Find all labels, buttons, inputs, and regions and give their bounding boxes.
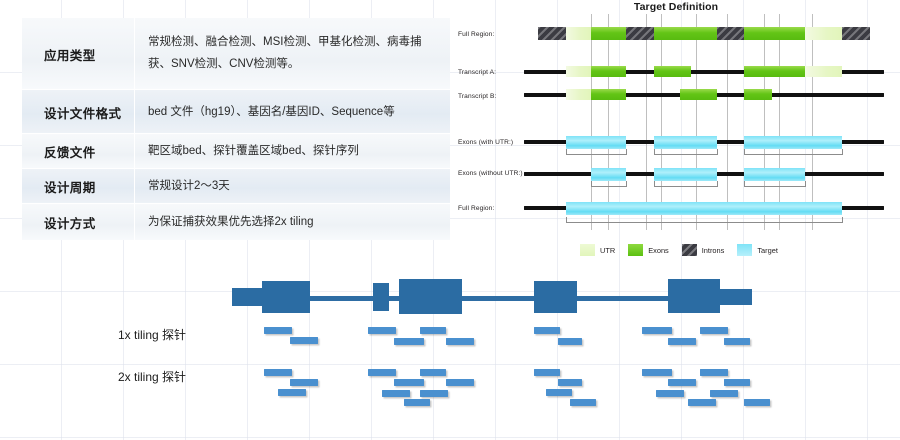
probe-1x [420,327,446,334]
gridline [646,14,647,230]
probe-2x [642,369,672,376]
probe-2x [264,369,292,376]
tiling-label: 1x tiling 探针 [118,326,186,343]
gridline [727,14,728,230]
segment-utr [805,66,843,77]
spec-row-value: 常规设计2～3天 [134,169,450,204]
spec-row-value: 为保证捕获效果优先选择2x tiling [134,204,450,240]
tiling-label: 2x tiling 探针 [118,368,186,385]
segment-target [654,136,717,149]
dimension-tick [566,149,567,155]
dimension-tick [717,149,718,155]
target-definition-panel: Target Definition Full Region:Transcript… [452,0,900,266]
dimension-line [744,154,842,155]
probe-1x [668,338,696,345]
segment-utr [566,27,591,40]
gene-exon-box [712,289,752,305]
gridline [779,14,780,230]
legend-item: Target [737,244,778,256]
spec-row: 设计文件格式bed 文件（hg19）、基因名/基因ID、Sequence等 [22,90,450,134]
track-label: Full Region: [458,205,494,212]
spec-row: 应用类型常规检测、融合检测、MSI检测、甲基化检测、病毒捕获、SNV检测、CNV… [22,18,450,90]
legend-swatch-target-icon [737,244,752,256]
probe-1x [264,327,292,334]
segment-exon [744,89,772,100]
dimension-tick [805,181,806,187]
probe-2x [420,390,448,397]
segment-exon [591,66,626,77]
probe-2x [546,389,572,396]
dimension-tick [591,181,592,187]
legend-item: UTR [580,244,615,256]
probe-2x [382,390,410,397]
dimension-tick [744,149,745,155]
tiling-panel: 1x tiling 探针2x tiling 探针 [0,262,900,440]
probe-1x [642,327,672,334]
gene-exon-box [262,281,310,313]
dimension-line [654,154,717,155]
dimension-tick [626,149,627,155]
probe-2x [404,399,430,406]
probe-2x [290,379,318,386]
segment-target [744,136,842,149]
probe-2x [668,379,696,386]
target-definition-plot: Full Region:Transcript A:Transcript B:Ex… [452,0,900,266]
spec-row-value: bed 文件（hg19）、基因名/基因ID、Sequence等 [134,90,450,134]
dimension-tick [566,217,567,223]
dimension-line [654,186,717,187]
spec-table: 应用类型常规检测、融合检测、MSI检测、甲基化检测、病毒捕获、SNV检测、CNV… [22,18,450,240]
probe-1x [724,338,750,345]
dimension-tick [842,217,843,223]
segment-exon [744,27,804,40]
legend-swatch-utr-icon [580,244,595,256]
legend-item: Exons [628,244,669,256]
track-label: Transcript B: [458,93,496,100]
slide-canvas: 应用类型常规检测、融合检测、MSI检测、甲基化检测、病毒捕获、SNV检测、CNV… [0,0,900,440]
legend-label: UTR [600,246,615,255]
track-label: Transcript A: [458,69,496,76]
spec-row-label: 设计文件格式 [22,90,134,134]
probe-2x [570,399,596,406]
segment-utr [566,89,591,100]
gridline [696,14,697,230]
gene-exon-box [373,283,389,311]
probe-2x [446,379,474,386]
spec-row: 设计方式为保证捕获效果优先选择2x tiling [22,204,450,240]
segment-exon [654,66,692,77]
segment-exon [654,27,717,40]
probe-1x [534,327,560,334]
segment-target [744,168,804,181]
segment-exon [591,27,626,40]
spec-row-label: 反馈文件 [22,134,134,169]
gridline [812,14,813,230]
dimension-line [566,154,626,155]
dimension-tick [744,181,745,187]
probe-2x [656,390,684,397]
probe-2x [700,369,728,376]
dimension-tick [842,149,843,155]
legend-item: Introns [682,244,725,256]
segment-target [566,202,843,215]
spec-row-label: 设计周期 [22,169,134,204]
probe-2x [394,379,424,386]
probe-2x [534,369,560,376]
segment-target [591,168,626,181]
probe-1x [558,338,582,345]
dimension-tick [626,181,627,187]
legend-label: Target [757,246,778,255]
probe-2x [688,399,716,406]
segment-intron [717,27,745,40]
spec-row: 设计周期常规设计2～3天 [22,169,450,204]
gene-exon-box [399,279,462,314]
segment-exon [680,89,716,100]
legend-label: Introns [702,246,725,255]
probe-2x [420,369,446,376]
dimension-line [591,186,626,187]
legend-label: Exons [648,246,669,255]
track-label: Exons (with UTR:) [458,139,513,146]
probe-1x [394,338,424,345]
spec-row-label: 设计方式 [22,204,134,240]
gridline [661,14,662,230]
track-label: Full Region: [458,31,494,38]
probe-2x [368,369,396,376]
segment-utr [805,27,843,40]
segment-intron [842,27,870,40]
gridline [591,14,592,230]
spec-row-value: 靶区域bed、探针覆盖区域bed、探针序列 [134,134,450,169]
spec-row-value: 常规检测、融合检测、MSI检测、甲基化检测、病毒捕获、SNV检测、CNV检测等。 [134,18,450,90]
gridline [764,14,765,230]
segment-exon [744,66,804,77]
dimension-tick [654,149,655,155]
probe-2x [724,379,750,386]
dimension-tick [717,181,718,187]
legend-swatch-introns-icon [682,244,697,256]
segment-target [654,168,717,181]
probe-1x [446,338,474,345]
spec-row: 反馈文件靶区域bed、探针覆盖区域bed、探针序列 [22,134,450,169]
segment-exon [591,89,626,100]
dimension-line [744,186,804,187]
segment-intron [626,27,654,40]
dimension-line [566,222,843,223]
dimension-tick [654,181,655,187]
legend-swatch-exons-icon [628,244,643,256]
probe-1x [290,337,318,344]
probe-2x [278,389,306,396]
gridline [608,14,609,230]
segment-target [566,136,626,149]
probe-1x [368,327,396,334]
probe-1x [700,327,728,334]
probe-2x [710,390,738,397]
segment-utr [566,66,591,77]
probe-2x [558,379,582,386]
target-definition-legend: UTRExonsIntronsTarget [580,244,778,256]
segment-intron [538,27,566,40]
probe-2x [744,399,770,406]
spec-row-label: 应用类型 [22,18,134,90]
gene-exon-box [534,281,577,313]
track-label: Exons (without UTR:) [458,170,523,177]
